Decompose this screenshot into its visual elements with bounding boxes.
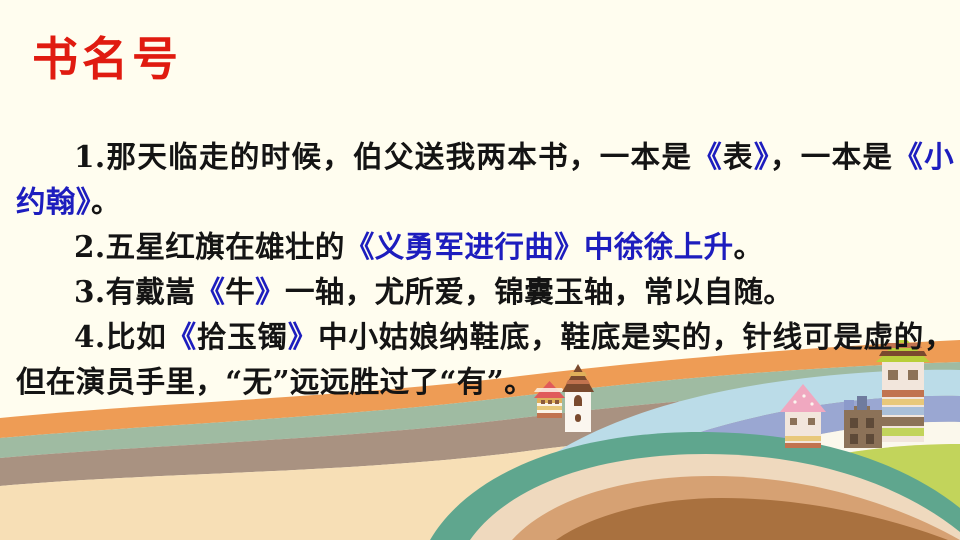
list-item: 3.有戴嵩《牛》一轴，尤所爱，锦囊玉轴，常以自随。 bbox=[16, 269, 954, 314]
book-title-shiyuzhuo: 拾玉镯 bbox=[197, 319, 288, 354]
list-item: 2.五星红旗在雄壮的《义勇军进行曲》中徐徐上升。 bbox=[16, 224, 954, 269]
item-text-c: 。 bbox=[91, 184, 121, 219]
item-text-a: 五星红旗在雄壮的 bbox=[106, 229, 345, 264]
hill-band-white bbox=[570, 422, 960, 540]
slide-canvas: 书名号 1.那天临走的时候，伯父送我两本书，一本是《表》，一本是《小约翰》。 2… bbox=[0, 0, 960, 540]
item-number: 1. bbox=[74, 139, 106, 174]
hill-band-periwinkle bbox=[530, 396, 960, 540]
book-title-yiyongjun: 《义勇军进行曲》中徐徐上升 bbox=[345, 229, 734, 264]
book-mark-open-2: 《 bbox=[893, 139, 924, 174]
book-title-niu: 牛 bbox=[225, 274, 255, 309]
swirl-ring-tan bbox=[512, 476, 960, 540]
page-title: 书名号 bbox=[32, 34, 182, 85]
item-number: 4. bbox=[74, 319, 106, 354]
hill-band-olive bbox=[604, 444, 960, 540]
book-mark-open: 《 bbox=[692, 139, 723, 174]
item-text-a: 有戴嵩 bbox=[106, 274, 196, 309]
swirl-ring-brown bbox=[556, 498, 948, 540]
book-mark-close: 》 bbox=[288, 319, 318, 354]
book-mark-close: 》 bbox=[754, 139, 770, 174]
item-text-b: ，一本是 bbox=[770, 139, 893, 174]
swirl-ring-teal bbox=[430, 432, 960, 540]
book-mark-open: 《 bbox=[167, 319, 197, 354]
hill-band-cream bbox=[0, 416, 960, 540]
swirl-ring-cream bbox=[470, 454, 960, 540]
list-item: 4.比如《拾玉镯》中小姑娘纳鞋底，鞋底是实的，针线可是虚的，但在演员手里，“无”… bbox=[16, 314, 954, 404]
item-text-b: 。 bbox=[734, 229, 764, 264]
book-mark-close-2: 》 bbox=[76, 184, 91, 219]
item-number: 3. bbox=[74, 274, 106, 309]
item-number: 2. bbox=[74, 229, 106, 264]
list-item: 1.那天临走的时候，伯父送我两本书，一本是《表》，一本是《小约翰》。 bbox=[16, 134, 954, 224]
item-text-b: 一轴，尤所爱，锦囊玉轴，常以自随。 bbox=[285, 274, 793, 309]
item-text-a: 那天临走的时候，伯父送我两本书，一本是 bbox=[106, 139, 693, 174]
book-mark-open: 《 bbox=[195, 274, 225, 309]
body-text-block: 1.那天临走的时候，伯父送我两本书，一本是《表》，一本是《小约翰》。 2.五星红… bbox=[16, 134, 954, 404]
item-text-a: 比如 bbox=[106, 319, 167, 354]
book-mark-close: 》 bbox=[255, 274, 285, 309]
book-title-biao: 表 bbox=[723, 139, 754, 174]
